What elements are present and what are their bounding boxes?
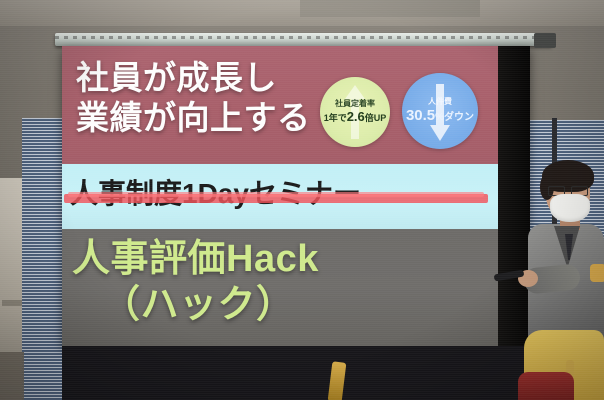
headline-line-2: 業績が向上する <box>76 98 326 138</box>
screen-surface: 社員が成長し 業績が向上する 社員定着率 1年で2.6倍UP <box>62 46 498 346</box>
badge-labor-cost-value: 30.5%ダウン <box>406 107 474 124</box>
slide-main-title: 人事評価Hack （ハック） <box>72 236 498 329</box>
ceiling-panel <box>300 0 480 17</box>
screen-lower-dark <box>62 346 530 400</box>
badge-labor-cost-text: 人件費 30.5%ダウン <box>406 97 474 124</box>
main-title-line-2: （ハック） <box>102 282 498 328</box>
badge-retention-rate: 社員定着率 1年で2.6倍UP <box>320 77 390 147</box>
strikethrough-mark-highlight <box>68 192 484 197</box>
presenter-pocket-item <box>590 264 604 282</box>
projector-screen-roller <box>55 33 552 46</box>
badge-retention-text: 社員定着率 1年で2.6倍UP <box>324 99 387 124</box>
side-table <box>0 352 24 400</box>
badge-retention-label: 社員定着率 <box>324 99 387 108</box>
roller-cap <box>534 33 556 48</box>
main-title-line-1: 人事評価Hack <box>72 238 319 280</box>
badge-labor-cost-label: 人件費 <box>406 97 474 106</box>
badge-labor-cost: 人件費 30.5%ダウン <box>402 73 478 149</box>
slide-headline: 社員が成長し 業績が向上する <box>76 58 326 139</box>
headline-line-1: 社員が成長し <box>76 59 277 96</box>
chair-seat <box>518 372 574 400</box>
face-mask <box>550 194 590 222</box>
screenshot-frame: 社員が成長し 業績が向上する 社員定着率 1年で2.6倍UP <box>0 0 604 400</box>
projection-screen: 社員が成長し 業績が向上する 社員定着率 1年で2.6倍UP <box>62 46 530 346</box>
badge-retention-value: 1年で2.6倍UP <box>324 110 387 125</box>
roller-texture <box>55 36 552 39</box>
slide: 社員が成長し 業績が向上する 社員定着率 1年で2.6倍UP <box>62 46 498 346</box>
eyeglasses-icon <box>548 186 588 194</box>
